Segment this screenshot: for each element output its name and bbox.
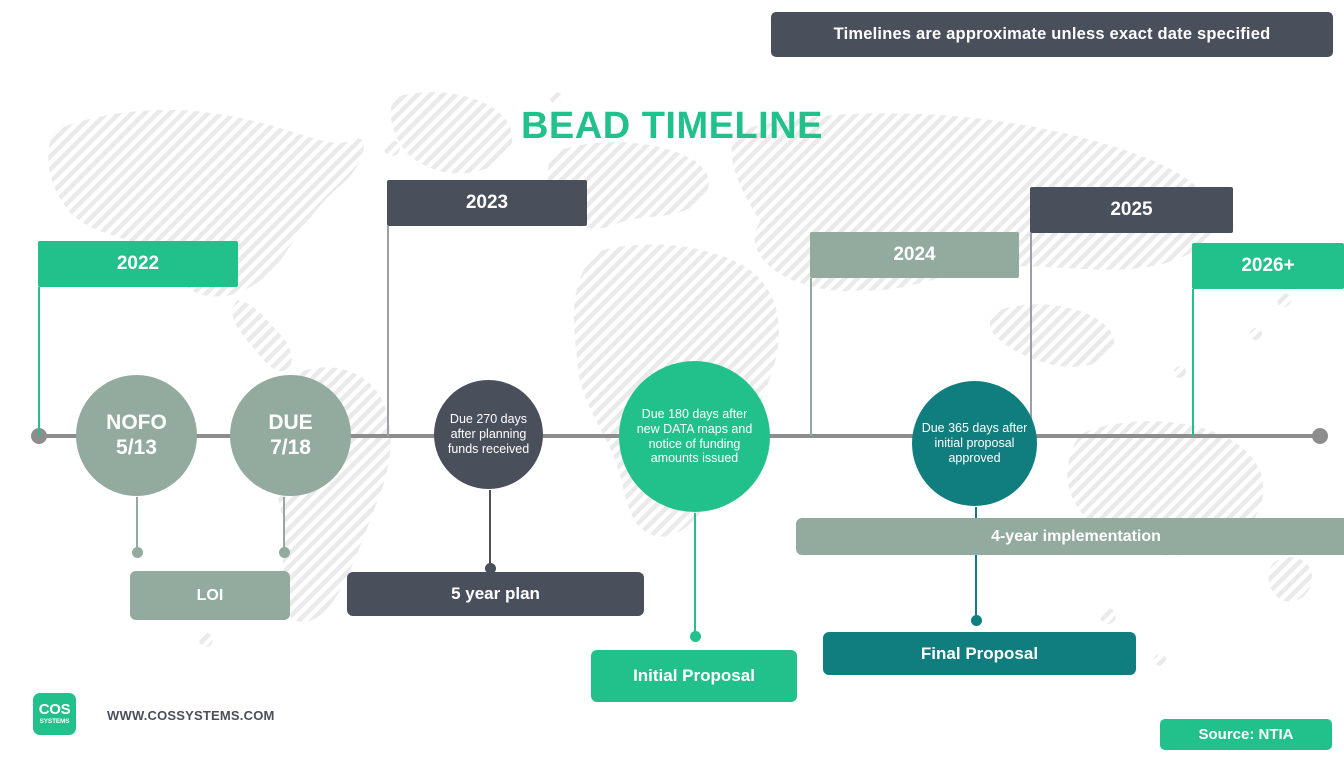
milestone-circle-line: Due 270 days (448, 412, 529, 427)
year-bar-label: 2024 (893, 244, 935, 266)
milestone-circle-text: Due 270 daysafter planningfunds received (448, 412, 529, 456)
year-bar-2023[interactable]: 2023 (387, 180, 587, 226)
year-stem-2026plus (1192, 289, 1194, 436)
milestone-circle-line: DUE (268, 411, 312, 436)
milestone-circle-line: 5/13 (106, 436, 167, 461)
pill-initial-proposal[interactable]: Initial Proposal (591, 650, 797, 702)
year-bar-label: 2026+ (1241, 255, 1294, 277)
milestone-circle-line: approved (922, 451, 1028, 466)
page-title: BEAD TIMELINE (0, 105, 1344, 148)
milestone-circle-text: NOFO5/13 (106, 411, 167, 461)
pill-final-proposal[interactable]: Final Proposal (823, 632, 1136, 675)
milestone-circle-line: Due 180 days after (637, 407, 753, 422)
pill-implementation[interactable]: 4-year implementation (796, 518, 1344, 555)
milestone-circle-plan270[interactable]: Due 270 daysafter planningfunds received (434, 380, 543, 489)
year-bar-2024[interactable]: 2024 (810, 232, 1019, 278)
year-bar-label: 2025 (1110, 199, 1152, 221)
pill-label: LOI (197, 587, 224, 605)
milestone-circle-data180[interactable]: Due 180 days afternew DATA maps andnotic… (619, 361, 770, 512)
milestone-circle-text: DUE7/18 (268, 411, 312, 461)
pill-label: 5 year plan (451, 584, 540, 604)
milestone-circle-nofo[interactable]: NOFO5/13 (76, 375, 197, 496)
pill-label: Initial Proposal (633, 666, 755, 686)
nofo-leader (136, 497, 138, 552)
year-bar-2026plus[interactable]: 2026+ (1192, 243, 1344, 289)
logo-secondary-text: SYSTEMS (40, 719, 70, 726)
plan-leader (489, 490, 491, 568)
website-url[interactable]: WWW.COSSYSTEMS.COM (107, 708, 275, 723)
timeline-note-banner: Timelines are approximate unless exact d… (771, 12, 1333, 57)
milestone-circle-due[interactable]: DUE7/18 (230, 375, 351, 496)
source-badge: Source: NTIA (1160, 719, 1332, 750)
year-bar-label: 2023 (466, 192, 508, 214)
year-bar-2025[interactable]: 2025 (1030, 187, 1233, 233)
milestone-circle-line: funds received (448, 442, 529, 457)
milestone-circle-text: Due 365 days afterinitial proposalapprov… (922, 421, 1028, 465)
milestone-circle-final365[interactable]: Due 365 days afterinitial proposalapprov… (912, 381, 1037, 506)
pill-five-year-plan[interactable]: 5 year plan (347, 572, 644, 616)
timeline-note-text: Timelines are approximate unless exact d… (834, 25, 1271, 44)
year-stem-2023 (387, 226, 389, 436)
milestone-circle-text: Due 180 days afternew DATA maps andnotic… (637, 407, 753, 466)
milestone-circle-line: amounts issued (637, 451, 753, 466)
year-bar-2022[interactable]: 2022 (38, 241, 238, 287)
due-leader (283, 497, 285, 552)
logo-primary-text: COS (39, 702, 71, 717)
milestone-circle-line: new DATA maps and (637, 422, 753, 437)
cos-systems-logo: COS SYSTEMS (33, 693, 76, 735)
nofo-leader-dot (132, 547, 143, 558)
pill-loi[interactable]: LOI (130, 571, 290, 620)
pill-label: 4-year implementation (991, 528, 1161, 546)
year-stem-2022 (38, 287, 40, 436)
source-badge-text: Source: NTIA (1198, 726, 1293, 743)
due-leader-dot (279, 547, 290, 558)
milestone-circle-line: after planning (448, 427, 529, 442)
milestone-circle-line: initial proposal (922, 436, 1028, 451)
final-leader-dot (971, 615, 982, 626)
initial-leader-dot (690, 631, 701, 642)
year-stem-2025 (1030, 233, 1032, 436)
year-stem-2024 (810, 278, 812, 436)
milestone-circle-line: Due 365 days after (922, 421, 1028, 436)
milestone-circle-line: NOFO (106, 411, 167, 436)
pill-label: Final Proposal (921, 644, 1038, 664)
timeline-axis-end-dot (1312, 428, 1328, 444)
milestone-circle-line: 7/18 (268, 436, 312, 461)
milestone-circle-line: notice of funding (637, 437, 753, 452)
year-bar-label: 2022 (117, 253, 159, 275)
initial-leader (694, 513, 696, 636)
